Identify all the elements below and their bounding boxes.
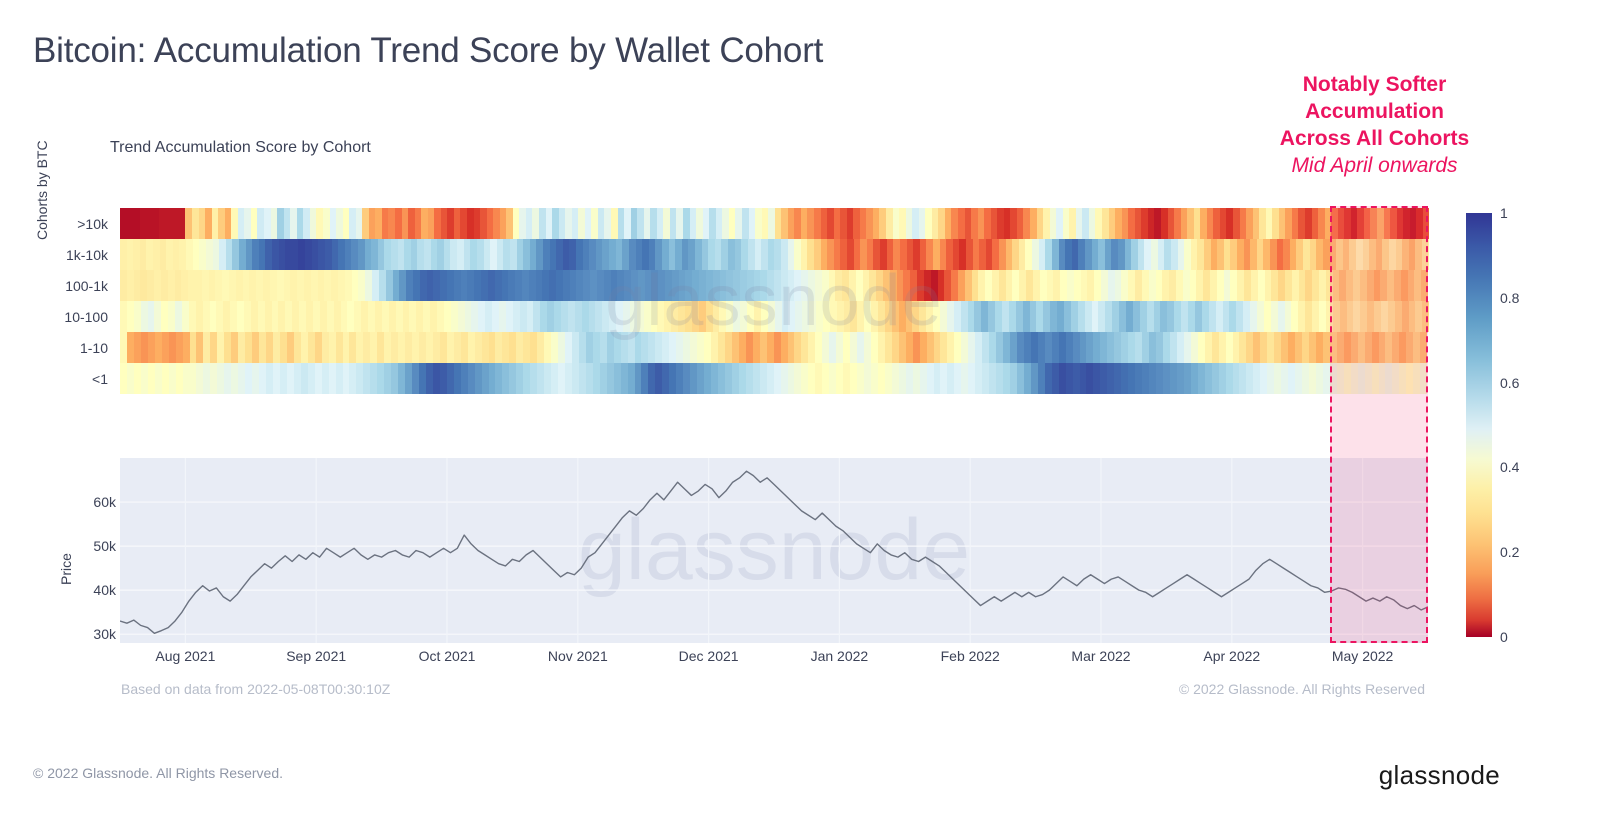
heatmap-cell — [782, 301, 789, 332]
heatmap-cell — [454, 363, 461, 394]
heatmap-cell — [556, 239, 563, 270]
heatmap-cell — [1323, 239, 1330, 270]
heatmap-cell — [1073, 332, 1080, 363]
colorbar-tick-label: 0.4 — [1500, 459, 1519, 475]
heatmap-cell — [232, 239, 239, 270]
heatmap-cell — [405, 363, 412, 394]
heatmap-cell — [1158, 239, 1165, 270]
heatmap-cell — [672, 270, 679, 301]
heatmap-cell — [768, 301, 775, 332]
heatmap-cell — [715, 239, 722, 270]
heatmap-cell — [968, 332, 975, 363]
heatmap-cell — [298, 239, 305, 270]
heatmap-cell — [1039, 239, 1046, 270]
heatmap-cell — [292, 301, 299, 332]
heatmap-cell — [1040, 270, 1047, 301]
heatmap-cell — [306, 301, 313, 332]
heatmap-cell — [747, 301, 754, 332]
heatmap-cell — [775, 301, 782, 332]
heatmap-cell — [664, 301, 671, 332]
heatmap-cell — [356, 363, 363, 394]
heatmap-cell — [1043, 301, 1050, 332]
heatmap-cell — [973, 239, 980, 270]
heatmap-cell — [533, 301, 540, 332]
heatmap-cell — [676, 332, 683, 363]
heatmap-cell — [168, 270, 175, 301]
heatmap-cell — [1045, 363, 1052, 394]
heatmap-cell — [829, 270, 836, 301]
heatmap-cell — [1086, 363, 1093, 394]
heatmap-cell — [982, 332, 989, 363]
heatmap-cell — [878, 332, 885, 363]
heatmap-cell — [1135, 332, 1142, 363]
heatmap-cell — [1196, 270, 1203, 301]
heatmap-cell — [933, 301, 940, 332]
heatmap-cell — [940, 239, 947, 270]
heatmap-cell — [808, 332, 815, 363]
heatmap-cell — [322, 332, 329, 363]
heatmap-cell — [361, 301, 368, 332]
heatmap-cell — [947, 301, 954, 332]
heatmap-cell — [1285, 301, 1292, 332]
heatmap-cell — [1223, 301, 1230, 332]
heatmap-cell — [405, 332, 412, 363]
heatmap-cell — [760, 332, 767, 363]
heatmap-cell — [273, 363, 280, 394]
heatmap-cell — [213, 239, 220, 270]
page-title: Bitcoin: Accumulation Trend Score by Wal… — [33, 31, 823, 71]
heatmap-cell — [522, 270, 529, 301]
heatmap-cell — [409, 301, 416, 332]
heatmap-cell — [690, 332, 697, 363]
heatmap-cell — [329, 363, 336, 394]
heatmap-cell — [266, 363, 273, 394]
heatmap-cell — [365, 239, 372, 270]
heatmap-cell — [510, 239, 517, 270]
heatmap-cell — [669, 239, 676, 270]
heatmap-cell — [1057, 301, 1064, 332]
heatmap-cell — [596, 239, 603, 270]
heatmap-cell — [604, 270, 611, 301]
heatmap-cell — [1074, 270, 1081, 301]
heatmap-cell — [1167, 301, 1174, 332]
heatmap-cell — [1244, 239, 1251, 270]
heatmap-cell — [968, 363, 975, 394]
heatmap-cell — [1205, 332, 1212, 363]
heatmap-cell — [1230, 239, 1237, 270]
heatmap-cell — [951, 270, 958, 301]
heatmap-cell — [871, 301, 878, 332]
heatmap-cell — [583, 239, 590, 270]
heatmap-cell — [341, 301, 348, 332]
price-y-tick-label: 40k — [80, 582, 116, 598]
heatmap-cell — [628, 363, 635, 394]
heatmap-cell — [406, 270, 413, 301]
heatmap-cell — [899, 301, 906, 332]
heatmap-cell — [259, 363, 266, 394]
heatmap-cell — [808, 363, 815, 394]
heatmap-cell — [679, 270, 686, 301]
heatmap-cell — [655, 332, 662, 363]
heatmap-cell — [252, 239, 259, 270]
heatmap-cell — [847, 239, 854, 270]
heatmap-cell — [1131, 239, 1138, 270]
heatmap-cell — [312, 239, 319, 270]
heatmap-cell — [1233, 363, 1240, 394]
heatmap-cell — [203, 332, 210, 363]
heatmap-cell — [259, 239, 266, 270]
heatmap-cell — [732, 332, 739, 363]
heatmap-cell — [338, 270, 345, 301]
heatmap-cell — [857, 363, 864, 394]
heatmap-cell — [440, 332, 447, 363]
heatmap-cell — [607, 332, 614, 363]
heatmap-cell — [614, 363, 621, 394]
heatmap-cell — [989, 363, 996, 394]
heatmap-cell — [382, 301, 389, 332]
heatmap-cell — [920, 239, 927, 270]
heatmap-cell — [704, 332, 711, 363]
heatmap-cell — [1149, 332, 1156, 363]
heatmap-cell — [497, 239, 504, 270]
heatmap-cell — [502, 332, 509, 363]
heatmap-cell — [621, 363, 628, 394]
heatmap-cell — [830, 301, 837, 332]
heatmap-cell — [1038, 363, 1045, 394]
heatmap-cell — [1243, 301, 1250, 332]
annotation-line-2: Accumulation — [1222, 99, 1527, 126]
heatmap-cell — [1151, 239, 1158, 270]
heatmap-cell — [836, 363, 843, 394]
heatmap-cell — [1114, 332, 1121, 363]
heatmap-cell — [589, 301, 596, 332]
heatmap-cell — [338, 239, 345, 270]
heatmap-cell — [1281, 332, 1288, 363]
heatmap-cell — [781, 363, 788, 394]
heatmap-cell — [127, 363, 134, 394]
heatmap-cell — [954, 301, 961, 332]
heatmap-cell — [1128, 332, 1135, 363]
heatmap-cell — [1019, 239, 1026, 270]
heatmap-cell — [347, 301, 354, 332]
heatmap-cell — [162, 363, 169, 394]
heatmap-cell — [829, 363, 836, 394]
price-line-series — [120, 458, 1428, 643]
heatmap-cell — [490, 239, 497, 270]
heatmap-cell — [1045, 332, 1052, 363]
heatmap-cell — [244, 301, 251, 332]
x-axis-tick-label: Jan 2022 — [811, 648, 869, 664]
heatmap-cell — [836, 332, 843, 363]
heatmap-cell — [217, 332, 224, 363]
heatmap-cell — [739, 363, 746, 394]
heatmap-cell — [1128, 270, 1135, 301]
heatmap-cell — [292, 239, 299, 270]
heatmap-cell — [843, 363, 850, 394]
heatmap-cell — [1224, 239, 1231, 270]
heatmap-cell — [324, 270, 331, 301]
heatmap-cell — [258, 301, 265, 332]
heatmap-cell — [378, 239, 385, 270]
heatmap-cell — [595, 301, 602, 332]
heatmap-cell — [482, 332, 489, 363]
heatmap-cell — [315, 332, 322, 363]
heatmap-cell — [1178, 239, 1185, 270]
annotation-line-3: Across All Cohorts — [1222, 126, 1527, 153]
heatmap-cell — [1059, 363, 1066, 394]
heatmap-cell — [1281, 363, 1288, 394]
heatmap-cell — [457, 239, 464, 270]
heatmap-cell — [196, 332, 203, 363]
heatmap-cell — [417, 239, 424, 270]
heatmap-cell — [992, 270, 999, 301]
heatmap-cell — [704, 363, 711, 394]
heatmap-cell — [878, 301, 885, 332]
heatmap-cell — [1012, 239, 1019, 270]
heatmap-cell — [843, 332, 850, 363]
heatmap-cell — [572, 363, 579, 394]
heatmap-cell — [711, 363, 718, 394]
heatmap-cell — [669, 363, 676, 394]
heatmap-cell — [384, 332, 391, 363]
heatmap-cell — [162, 332, 169, 363]
heatmap-cell — [823, 301, 830, 332]
heatmap-cell — [569, 239, 576, 270]
heatmap-cell — [1233, 332, 1240, 363]
heatmap-cell — [1219, 332, 1226, 363]
heatmap-cell — [662, 363, 669, 394]
heatmap-cell — [649, 239, 656, 270]
heatmap-cell — [325, 239, 332, 270]
heatmap-cell — [883, 270, 890, 301]
heatmap-cell — [482, 363, 489, 394]
heatmap-cell — [1181, 301, 1188, 332]
heatmap-cell — [554, 301, 561, 332]
heatmap-cell — [1253, 332, 1260, 363]
heatmap-cell — [547, 301, 554, 332]
heatmap-cell — [120, 301, 127, 332]
heatmap-cell — [774, 270, 781, 301]
heatmap-cell — [426, 332, 433, 363]
heatmap-cell — [1202, 301, 1209, 332]
heatmap-cell — [345, 270, 352, 301]
heatmap-cell — [308, 363, 315, 394]
heatmap-cell — [358, 270, 365, 301]
heatmap-cell — [801, 270, 808, 301]
heatmap-cell — [676, 363, 683, 394]
heatmap-cell — [412, 332, 419, 363]
heatmap-cell — [508, 270, 515, 301]
heatmap-cell — [1164, 239, 1171, 270]
heatmap-cell — [688, 239, 695, 270]
heatmap-cell — [589, 239, 596, 270]
heatmap-cell — [484, 239, 491, 270]
heatmap-cell — [516, 363, 523, 394]
colorbar-tick-label: 0 — [1500, 629, 1508, 645]
heatmap-cell — [454, 332, 461, 363]
colorbar-tick-label: 0.6 — [1500, 375, 1519, 391]
heatmap-cell — [356, 332, 363, 363]
heatmap-cell — [1278, 301, 1285, 332]
heatmap-cell — [523, 239, 530, 270]
heatmap-cell — [160, 239, 167, 270]
heatmap-cell — [520, 301, 527, 332]
heatmap-cell — [210, 332, 217, 363]
heatmap-cell — [755, 239, 762, 270]
heatmap-cell — [1149, 363, 1156, 394]
heatmap-cell — [398, 239, 405, 270]
heatmap-cell — [1019, 270, 1026, 301]
heatmap-cell — [1067, 270, 1074, 301]
heatmap-cell — [1098, 301, 1105, 332]
heatmap-cell — [322, 363, 329, 394]
heatmap-cell — [1177, 332, 1184, 363]
heatmap-cell — [860, 239, 867, 270]
heatmap-cell — [760, 270, 767, 301]
heatmap-cell — [433, 363, 440, 394]
heatmap-cell — [1003, 332, 1010, 363]
heatmap-cell — [517, 239, 524, 270]
heatmap-cell — [210, 301, 217, 332]
heatmap-cell — [318, 239, 325, 270]
heatmap-cell — [329, 332, 336, 363]
heatmap-cell — [979, 239, 986, 270]
heatmap-cell — [148, 301, 155, 332]
heatmap-cell — [733, 270, 740, 301]
heatmap-cell — [146, 239, 153, 270]
heatmap-cell — [127, 270, 134, 301]
x-axis-tick-label: May 2022 — [1332, 648, 1393, 664]
heatmap-cell — [655, 239, 662, 270]
heatmap-cell — [1156, 270, 1163, 301]
heatmap-cell — [565, 363, 572, 394]
heatmap-cell — [349, 363, 356, 394]
heatmap-cell — [465, 301, 472, 332]
heatmap-cell — [926, 239, 933, 270]
heatmap-cell — [968, 301, 975, 332]
heatmap-cell — [1121, 270, 1128, 301]
source-note: Based on data from 2022-05-08T00:30:10Z — [121, 681, 390, 697]
heatmap-cell — [305, 239, 312, 270]
heatmap-cell — [1250, 301, 1257, 332]
heatmap-cell — [940, 363, 947, 394]
heatmap-cell — [611, 270, 618, 301]
heatmap-cell — [1119, 301, 1126, 332]
heatmap-cell — [120, 363, 127, 394]
heatmap-cell — [1142, 332, 1149, 363]
heatmap-cell — [946, 239, 953, 270]
heatmap-cell — [1260, 363, 1267, 394]
heatmap-cell — [614, 332, 621, 363]
heatmap-cell — [871, 332, 878, 363]
heatmap-cell — [876, 270, 883, 301]
heatmap-cell — [169, 363, 176, 394]
heatmap-cell — [917, 270, 924, 301]
heatmap-cell — [1246, 332, 1253, 363]
heatmap-cell — [900, 239, 907, 270]
heatmap-cell — [651, 270, 658, 301]
heatmap-cell — [481, 270, 488, 301]
heatmap-cell — [624, 270, 631, 301]
heatmap-cell — [992, 239, 999, 270]
heatmap-cell — [327, 301, 334, 332]
heatmap-cell — [506, 301, 513, 332]
heatmap-cell — [1312, 270, 1319, 301]
heatmap-cell — [767, 363, 774, 394]
heatmap-cell — [1162, 270, 1169, 301]
heatmap-cell — [864, 363, 871, 394]
heatmap-cell — [1209, 301, 1216, 332]
heatmap-cell — [161, 270, 168, 301]
heatmap-cell — [141, 363, 148, 394]
heatmap-cell — [711, 332, 718, 363]
heatmap-cell — [1239, 363, 1246, 394]
heatmap-cell — [641, 363, 648, 394]
heatmap-cell — [931, 270, 938, 301]
price-y-tick-label: 50k — [80, 538, 116, 554]
heatmap-cell — [396, 301, 403, 332]
heatmap-cell — [495, 332, 502, 363]
heatmap-cell — [576, 270, 583, 301]
heatmap-cell — [972, 270, 979, 301]
heatmap-cell — [336, 363, 343, 394]
heatmap-cell — [616, 239, 623, 270]
heatmap-cell — [609, 239, 616, 270]
heatmap-cell — [788, 332, 795, 363]
heatmap-cell — [768, 239, 775, 270]
heatmap-cell — [1128, 363, 1135, 394]
heatmap-cell — [662, 239, 669, 270]
heatmap-cell — [697, 363, 704, 394]
heatmap-cell — [740, 301, 747, 332]
heatmap-row-label: 1k-10k — [66, 247, 108, 263]
heatmap-cell — [692, 301, 699, 332]
heatmap-cell — [1135, 270, 1142, 301]
heatmap-cell — [249, 270, 256, 301]
heatmap-cell — [1081, 270, 1088, 301]
heatmap-cell — [1296, 239, 1303, 270]
heatmap-cell — [801, 332, 808, 363]
heatmap-cell — [245, 363, 252, 394]
x-axis-tick-label: Aug 2021 — [155, 648, 215, 664]
heatmap-cell — [1033, 270, 1040, 301]
heatmap-cell — [1212, 363, 1219, 394]
heatmap-cell — [576, 239, 583, 270]
heatmap-cell — [849, 270, 856, 301]
heatmap-cell — [926, 301, 933, 332]
heatmap-cell — [273, 332, 280, 363]
heatmap-cell — [478, 301, 485, 332]
heatmap-cell — [927, 363, 934, 394]
heatmap-cell — [774, 239, 781, 270]
heatmap-cell — [294, 332, 301, 363]
heatmap-cell — [1026, 270, 1033, 301]
heatmap-cell — [386, 270, 393, 301]
heatmap-cell — [835, 270, 842, 301]
heatmap-cell — [1239, 332, 1246, 363]
heatmap-cell — [837, 301, 844, 332]
heatmap-cell — [1305, 301, 1312, 332]
heatmap-cell — [290, 270, 297, 301]
annotation-callout: Notably Softer Accumulation Across All C… — [1222, 72, 1527, 180]
heatmap-cell — [795, 301, 802, 332]
heatmap-cell — [947, 363, 954, 394]
heatmap-cell — [544, 332, 551, 363]
heatmap-cell — [1316, 363, 1323, 394]
heatmap-cell — [246, 239, 253, 270]
heatmap-cell — [958, 270, 965, 301]
heatmap-cell — [1107, 332, 1114, 363]
